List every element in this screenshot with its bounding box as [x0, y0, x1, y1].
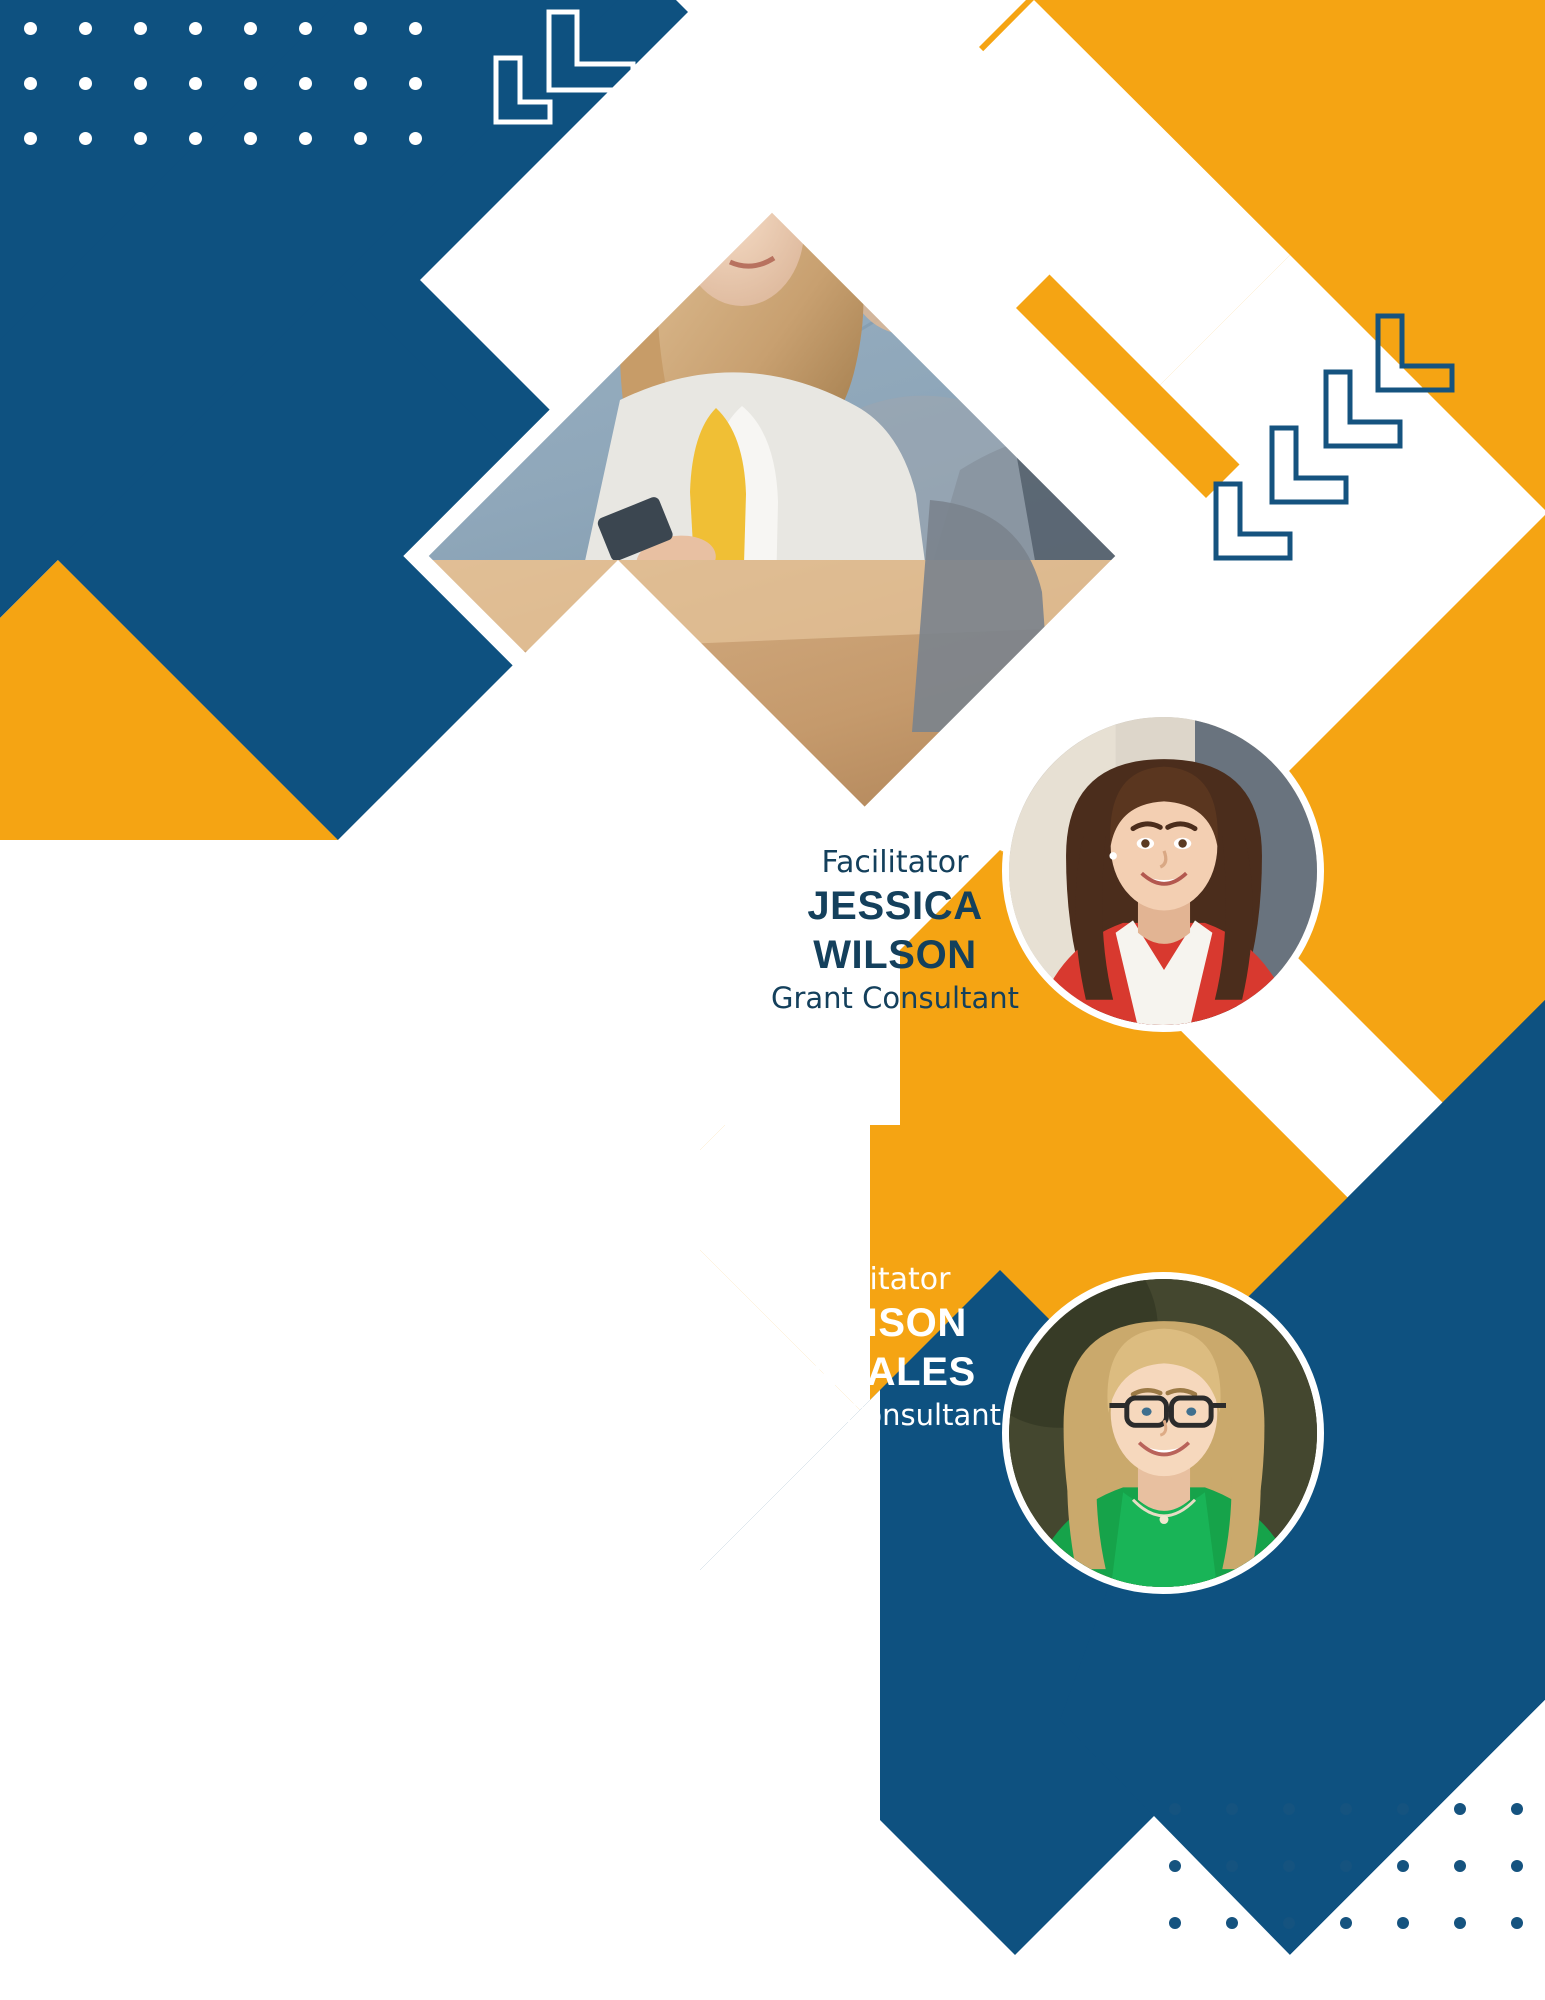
facilitator-1-role: Facilitator [730, 845, 1060, 880]
corner-bracket-icon-6 [1212, 480, 1294, 567]
facilitator-2-caption: Facilitator ALLISON CANALES Grant Consul… [712, 1262, 1042, 1433]
facilitator-1-caption: Facilitator JESSICA WILSON Grant Consult… [730, 845, 1060, 1016]
facilitator-2-role: Facilitator [712, 1262, 1042, 1297]
facilitator-2-name: ALLISON CANALES [712, 1299, 1042, 1397]
facilitator-1-name: JESSICA WILSON [730, 882, 1060, 980]
facilitator-1-job-title: Grant Consultant [730, 981, 1060, 1016]
flyer-canvas: UNLOCKING GRANT FUNDING Finding the Righ… [0, 0, 1545, 2000]
avatar-allison-canales [1002, 1272, 1324, 1594]
corner-bracket-icon-2 [545, 8, 637, 99]
dot-grid-top-left [24, 22, 464, 187]
dot-grid-bottom-right [1169, 1803, 1523, 1974]
facilitator-2-job-title: Grant Consultant [712, 1398, 1042, 1433]
